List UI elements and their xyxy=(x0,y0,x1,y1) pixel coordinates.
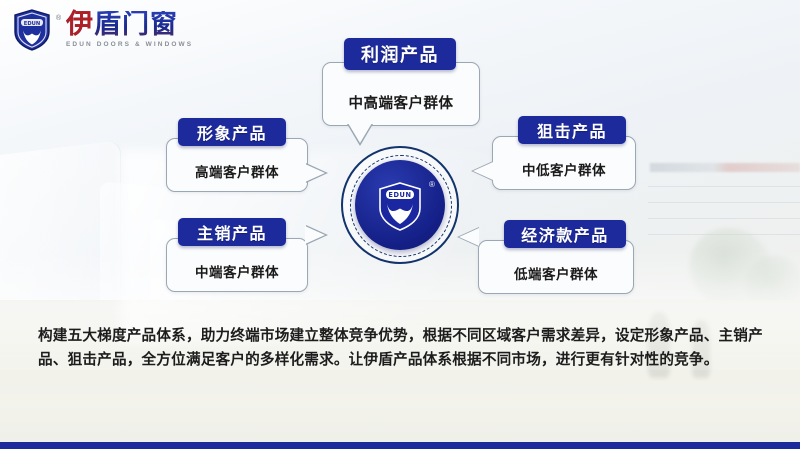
shield-logo-icon: EDUN xyxy=(12,8,52,52)
callout-main-sales-box: 中端客户群体 xyxy=(166,238,308,292)
callout-image-tail xyxy=(305,164,325,182)
svg-text:EDUN: EDUN xyxy=(24,21,40,27)
brand-name-cn: 伊盾门窗 xyxy=(66,11,193,38)
callout-profit-tail xyxy=(348,123,372,143)
callout-main-sales[interactable]: 中端客户群体 主销产品 xyxy=(166,238,308,292)
brand-wordmark: 伊盾门窗 EDUN DOORS & WINDOWS xyxy=(66,11,193,49)
emblem-registered-mark: ® xyxy=(429,180,435,189)
callout-economy-subtitle: 低端客户群体 xyxy=(479,241,633,293)
description-paragraph: 构建五大梯度产品体系，助力终端市场建立整体竞争优势，根据不同区域客户需求差异，设… xyxy=(38,324,768,371)
callout-sniper-title: 狙击产品 xyxy=(518,116,626,144)
callout-profit-subtitle: 中高端客户群体 xyxy=(323,63,479,125)
callout-economy[interactable]: 低端客户群体 经济款产品 xyxy=(478,240,634,294)
callout-image[interactable]: 高端客户群体 形象产品 xyxy=(166,138,308,192)
callout-main-sales-subtitle: 中端客户群体 xyxy=(167,239,307,291)
callout-sniper[interactable]: 中低客户群体 狙击产品 xyxy=(492,136,636,190)
callout-sniper-subtitle: 中低客户群体 xyxy=(493,137,635,189)
callout-image-title: 形象产品 xyxy=(178,118,286,146)
center-emblem: EDUN ® xyxy=(341,146,459,264)
edun-shield-emblem-icon: EDUN xyxy=(378,182,422,232)
callout-main-sales-tail xyxy=(305,226,325,244)
callout-economy-tail xyxy=(459,228,479,246)
background-building-line-1 xyxy=(648,186,800,187)
brand-logo: EDUN ® 伊盾门窗 EDUN DOORS & WINDOWS xyxy=(12,8,193,52)
logo-registered-mark: ® xyxy=(56,15,61,22)
callout-image-subtitle: 高端客户群体 xyxy=(167,139,307,191)
callout-sniper-tail xyxy=(473,162,493,180)
callout-profit-title: 利润产品 xyxy=(344,38,456,70)
callout-economy-title: 经济款产品 xyxy=(504,220,626,248)
background-building-line-3 xyxy=(648,218,800,219)
callout-profit-box: 中高端客户群体 xyxy=(322,62,480,126)
callout-profit[interactable]: 中高端客户群体 利润产品 xyxy=(322,62,480,126)
slide-canvas: EDUN ® 伊盾门窗 EDUN DOORS & WINDOWS EDUN ® … xyxy=(0,0,800,449)
background-building-line-2 xyxy=(648,202,800,203)
bottom-accent-bar xyxy=(0,442,800,449)
brand-name-cn-rest: 盾门窗 xyxy=(94,9,178,40)
brand-name-en: EDUN DOORS & WINDOWS xyxy=(66,42,193,49)
callout-main-sales-title: 主销产品 xyxy=(178,218,286,246)
callout-sniper-box: 中低客户群体 xyxy=(492,136,636,190)
callout-economy-box: 低端客户群体 xyxy=(478,240,634,294)
callout-image-box: 高端客户群体 xyxy=(166,138,308,192)
svg-text:EDUN: EDUN xyxy=(388,191,411,199)
brand-name-cn-first: 伊 xyxy=(66,9,94,40)
background-signage xyxy=(650,163,800,172)
